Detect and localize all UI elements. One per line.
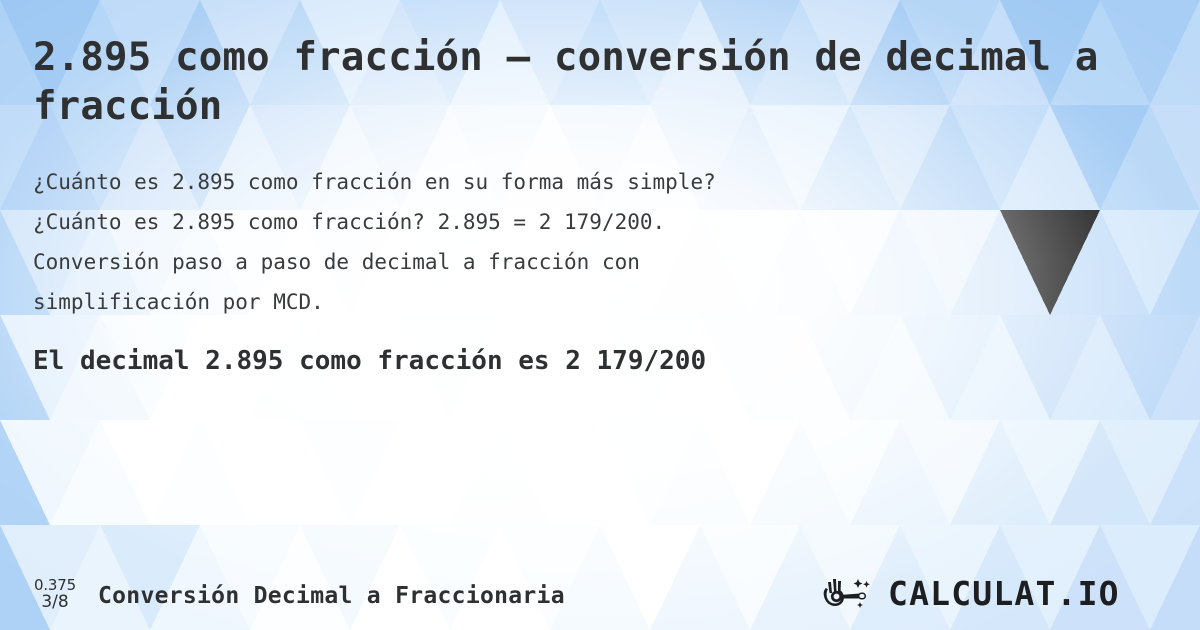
- page-description: ¿Cuánto es 2.895 como fracción en su for…: [33, 131, 1093, 322]
- description-line-2: ¿Cuánto es 2.895 como fracción? 2.895 = …: [33, 210, 665, 234]
- calculatio-wordmark-text: CALCULAT.IO: [888, 574, 1120, 613]
- description-line-4: simplificación por MCD.: [33, 290, 324, 314]
- footer-brand: 0.375 3/8 Conversión Decimal a Fracciona…: [26, 578, 565, 614]
- og-card: 2.895 como fracción – conversión de deci…: [0, 0, 1200, 630]
- fraction-example-icon: 0.375 3/8: [26, 578, 84, 614]
- card-content: 2.895 como fracción – conversión de deci…: [33, 0, 1167, 378]
- hand-magic-wand-icon: [820, 574, 882, 614]
- description-line-1: ¿Cuánto es 2.895 como fracción en su for…: [33, 170, 716, 194]
- footer-tool-name: Conversión Decimal a Fraccionaria: [98, 583, 565, 609]
- result-statement: El decimal 2.895 como fracción es 2 179/…: [33, 322, 1167, 378]
- calculatio-wordmark: CALCULAT.IO: [888, 574, 1178, 614]
- card-footer: 0.375 3/8 Conversión Decimal a Fracciona…: [0, 538, 1200, 630]
- page-title: 2.895 como fracción – conversión de deci…: [33, 0, 1103, 131]
- calculatio-logo[interactable]: CALCULAT.IO: [820, 574, 1178, 614]
- description-line-3: Conversión paso a paso de decimal a frac…: [33, 250, 640, 274]
- fraction-icon-fraction: 3/8: [26, 594, 84, 612]
